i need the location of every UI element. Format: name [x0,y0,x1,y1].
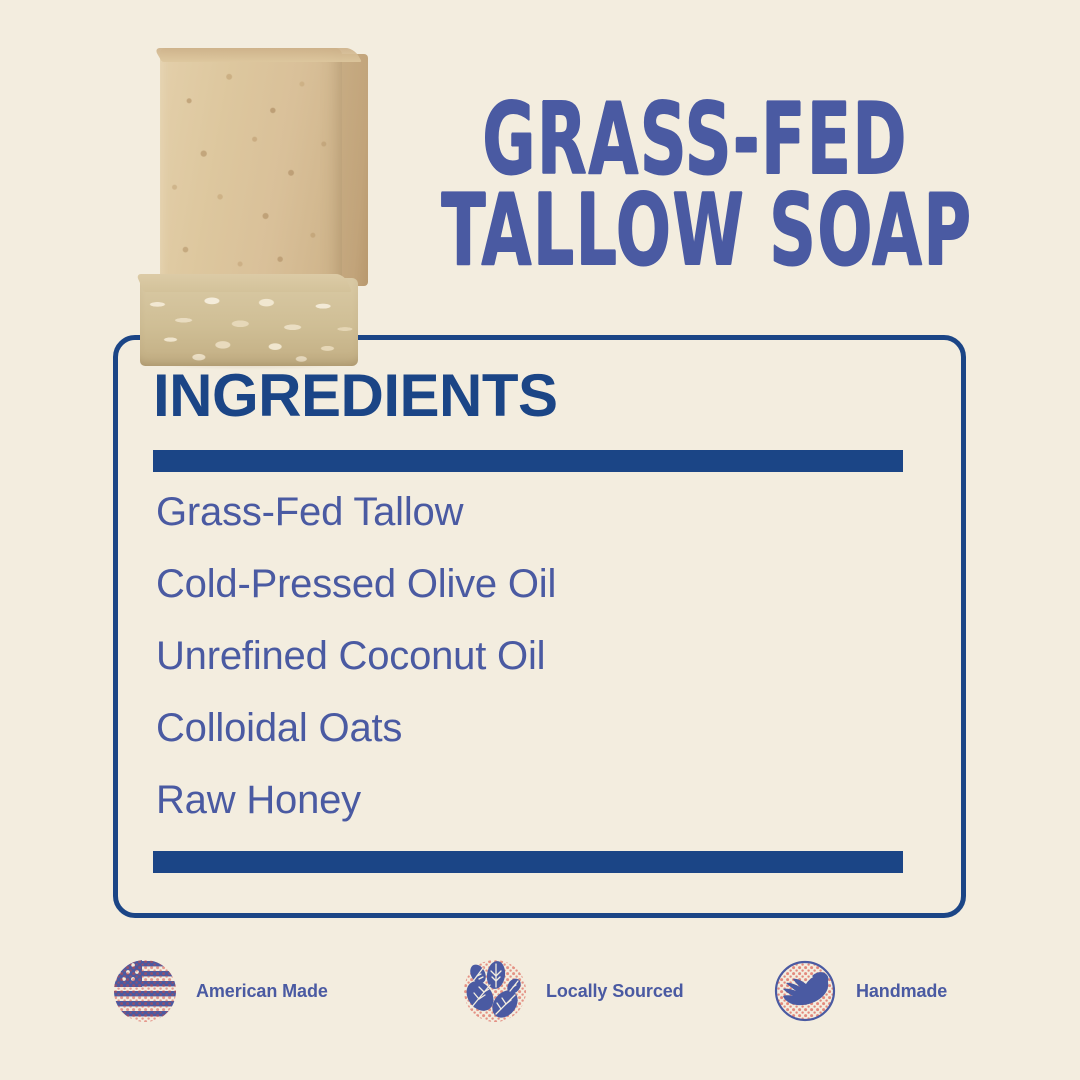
poster-canvas: GRASS-FED TALLOW SOAP INGREDIENTS Grass-… [0,0,1080,1080]
badge-american-made: American Made [108,946,328,1036]
badge-label: American Made [196,981,328,1002]
soap-upright-bar [160,48,342,288]
ingredients-list: Grass-Fed Tallow Cold-Pressed Olive Oil … [156,492,916,820]
badge-label: Handmade [856,981,947,1002]
badge-locally-sourced: Locally Sourced [458,946,684,1036]
ingredients-heading: INGREDIENTS [153,366,558,426]
badge-label: Locally Sourced [546,981,684,1002]
list-item: Unrefined Coconut Oil [156,636,916,676]
badge-handmade: Handmade [768,946,947,1036]
poster-title: GRASS-FED TALLOW SOAP [400,92,990,265]
divider-bar-top [153,450,903,472]
soap-product-image [140,48,372,366]
divider-bar-bottom [153,851,903,873]
trust-badges: American Made [0,946,1080,1036]
list-item: Grass-Fed Tallow [156,492,916,532]
soap-lying-top-edge [136,274,352,292]
leaves-icon [458,954,532,1028]
hand-icon [768,954,842,1028]
title-line-2: TALLOW SOAP [441,183,948,279]
list-item: Cold-Pressed Olive Oil [156,564,916,604]
list-item: Colloidal Oats [156,708,916,748]
soap-upright-top-edge [154,48,362,62]
american-flag-icon [108,954,182,1028]
list-item: Raw Honey [156,780,916,820]
